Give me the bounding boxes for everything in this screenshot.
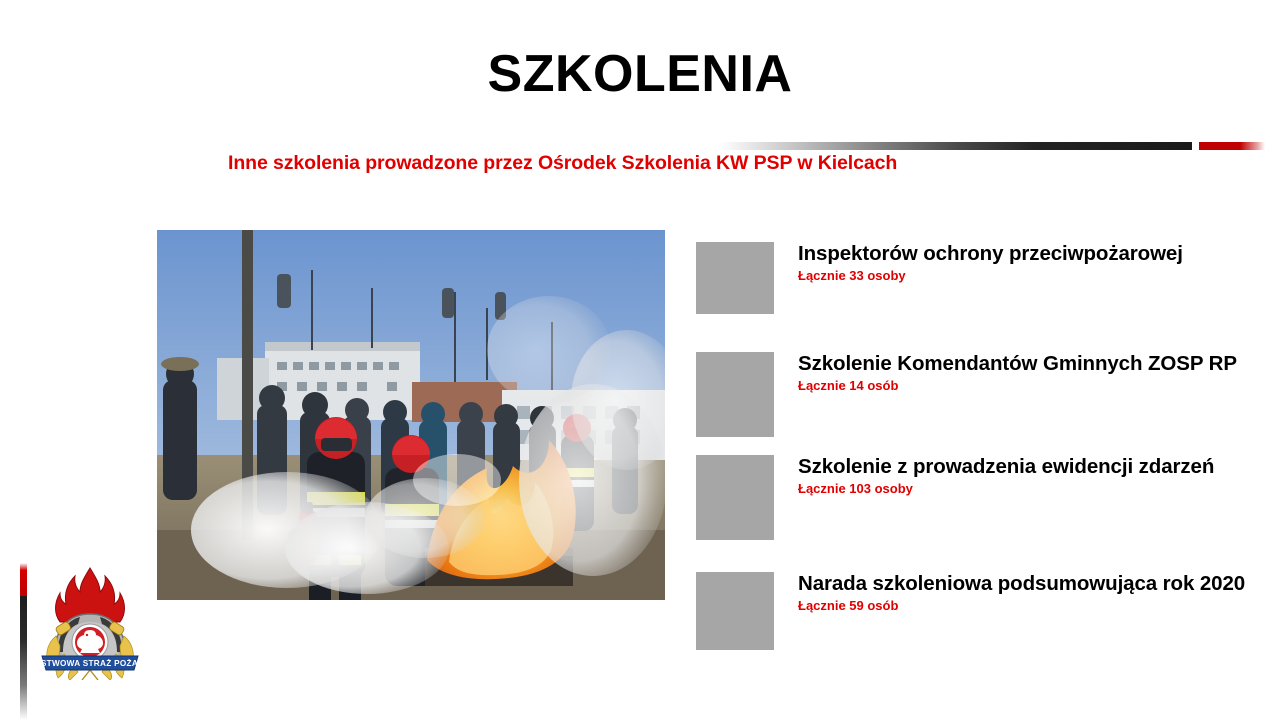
slide-subtitle: Inne szkolenia prowadzone przez Ośrodek … bbox=[228, 152, 897, 175]
item-thumbnail bbox=[696, 242, 774, 314]
logo-banner-text: PAŃSTWOWA STRAŻ POŻARNA bbox=[34, 658, 146, 668]
photo-artwork bbox=[157, 230, 665, 600]
training-photo bbox=[157, 230, 665, 600]
item-thumbnail bbox=[696, 572, 774, 650]
page-title: SZKOLENIA bbox=[0, 46, 1280, 103]
item-total: Łącznie 14 osób bbox=[798, 378, 1276, 394]
item-text: Szkolenie Komendantów Gminnych ZOSP RP Ł… bbox=[798, 350, 1276, 394]
item-thumbnail bbox=[696, 352, 774, 437]
training-list: Inspektorów ochrony przeciwpożarowej Łąc… bbox=[696, 230, 1276, 670]
item-text: Narada szkoleniowa podsumowująca rok 202… bbox=[798, 570, 1276, 614]
psp-emblem-artwork: PAŃSTWOWA STRAŻ POŻARNA bbox=[34, 562, 146, 680]
vertical-red-accent bbox=[20, 563, 27, 596]
item-title: Szkolenie Komendantów Gminnych ZOSP RP bbox=[798, 350, 1276, 377]
decorative-red-bar bbox=[1199, 142, 1265, 150]
item-text: Inspektorów ochrony przeciwpożarowej Łąc… bbox=[798, 240, 1276, 284]
slide-canvas: SZKOLENIA Inne szkolenia prowadzone prze… bbox=[0, 0, 1280, 720]
item-total: Łącznie 103 osoby bbox=[798, 481, 1276, 497]
item-total: Łącznie 33 osoby bbox=[798, 268, 1276, 284]
item-text: Szkolenie z prowadzenia ewidencji zdarze… bbox=[798, 453, 1276, 497]
item-title: Szkolenie z prowadzenia ewidencji zdarze… bbox=[798, 453, 1276, 480]
psp-logo: PAŃSTWOWA STRAŻ POŻARNA bbox=[34, 562, 146, 680]
item-title: Narada szkoleniowa podsumowująca rok 202… bbox=[798, 570, 1276, 597]
item-title: Inspektorów ochrony przeciwpożarowej bbox=[798, 240, 1276, 267]
vertical-dark-accent bbox=[20, 596, 27, 720]
item-total: Łącznie 59 osób bbox=[798, 598, 1276, 614]
decorative-gradient-bar bbox=[700, 142, 1192, 150]
item-thumbnail bbox=[696, 455, 774, 540]
